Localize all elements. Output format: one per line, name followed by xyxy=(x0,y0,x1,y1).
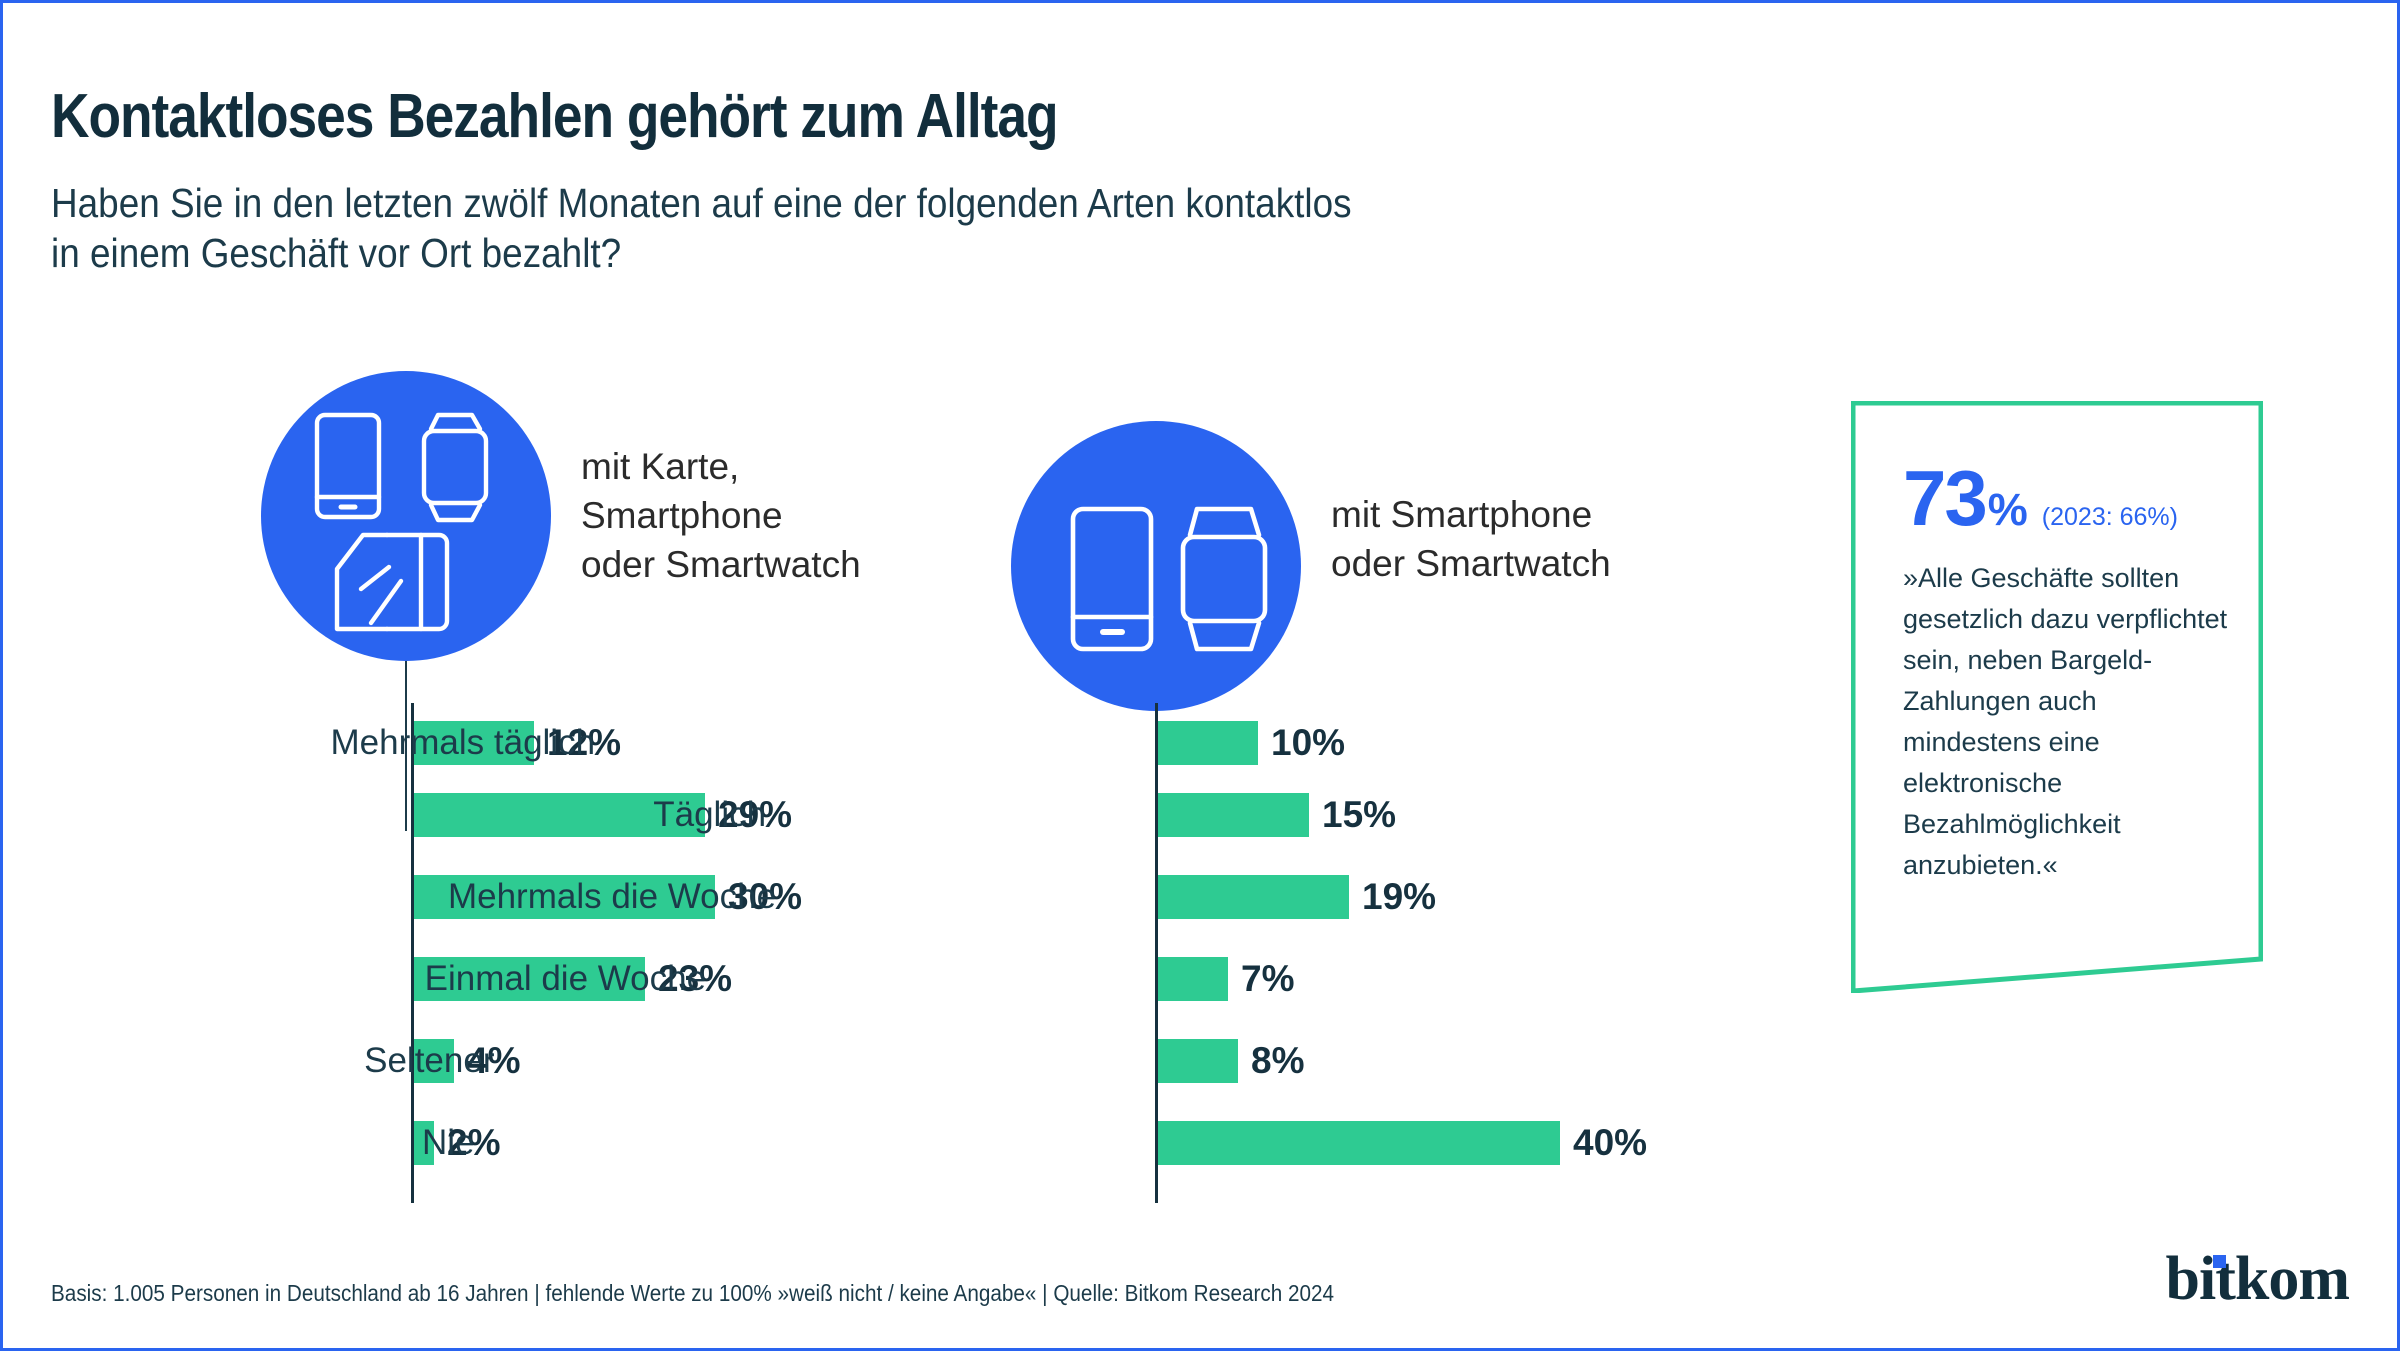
bar-value: 19% xyxy=(1362,876,1436,918)
row-label: Einmal die Woche xyxy=(425,947,706,1011)
bitkom-logo: bitkom xyxy=(2166,1248,2349,1310)
table-row: Mehrmals täglich 12% xyxy=(414,711,621,775)
logo-dot-icon xyxy=(2213,1255,2226,1268)
badge-left-line-3: oder Smartwatch xyxy=(581,541,861,590)
smartphone-smartwatch-icon xyxy=(1011,421,1301,711)
table-row: 19% xyxy=(1158,865,1436,929)
bar xyxy=(1158,1121,1560,1165)
badge-left-line-1: mit Karte, xyxy=(581,443,861,492)
bar xyxy=(1158,721,1258,765)
table-row: Mehrmals die Woche 30% xyxy=(414,865,802,929)
quote-statistic: 73 % (2023: 66%) xyxy=(1903,453,2233,544)
page-subtitle: Haben Sie in den letzten zwölf Monaten a… xyxy=(51,178,1626,278)
badge-label-right: mit Smartphone oder Smartwatch xyxy=(1331,491,1611,589)
row-label: Mehrmals täglich xyxy=(331,711,596,775)
quote-text: »Alle Geschäfte sollten gesetzlich dazu … xyxy=(1903,558,2233,886)
bar-value: 8% xyxy=(1251,1040,1304,1082)
bar xyxy=(1158,793,1309,837)
quote-callout: 73 % (2023: 66%) »Alle Geschäfte sollten… xyxy=(1851,401,2263,993)
row-label: Mehrmals die Woche xyxy=(448,865,776,929)
badge-left-line-2: Smartphone xyxy=(581,492,861,541)
subtitle-line-1: Haben Sie in den letzten zwölf Monaten a… xyxy=(51,178,1626,228)
badge-label-left: mit Karte, Smartphone oder Smartwatch xyxy=(581,443,861,589)
row-label: Nie xyxy=(422,1111,475,1175)
table-row: 7% xyxy=(1158,947,1294,1011)
page-title: Kontaktloses Bezahlen gehört zum Alltag xyxy=(51,81,1058,152)
logo-wordmark: bitkom xyxy=(2166,1245,2349,1313)
badge-right-line-1: mit Smartphone xyxy=(1331,491,1611,540)
badge-right-line-2: oder Smartwatch xyxy=(1331,540,1611,589)
table-row: Nie 2% xyxy=(414,1111,500,1175)
bar-value: 7% xyxy=(1241,958,1294,1000)
stat-unit: % xyxy=(1988,484,2028,536)
row-label: Seltener xyxy=(364,1029,494,1093)
table-row: 40% xyxy=(1158,1111,1647,1175)
stat-previous-year: (2023: 66%) xyxy=(2042,503,2178,532)
table-row: 10% xyxy=(1158,711,1345,775)
stat-number: 73 xyxy=(1903,453,1986,544)
table-row: 15% xyxy=(1158,783,1396,847)
bar-value: 10% xyxy=(1271,722,1345,764)
table-row: 8% xyxy=(1158,1029,1304,1093)
table-row: Einmal die Woche 23% xyxy=(414,947,732,1011)
subtitle-line-2: in einem Geschäft vor Ort bezahlt? xyxy=(51,228,1626,278)
footnote: Basis: 1.005 Personen in Deutschland ab … xyxy=(51,1280,1334,1307)
table-row: Täglich 29% xyxy=(414,783,792,847)
table-row: Seltener 4% xyxy=(414,1029,520,1093)
bar-value: 15% xyxy=(1322,794,1396,836)
smartphone-smartwatch-card-hand-icon xyxy=(261,371,551,661)
infographic-page: Kontaktloses Bezahlen gehört zum Alltag … xyxy=(0,0,2400,1351)
bar xyxy=(1158,957,1228,1001)
row-label: Täglich xyxy=(653,783,766,847)
bar xyxy=(1158,1039,1238,1083)
bar xyxy=(1158,875,1349,919)
bar-value: 40% xyxy=(1573,1122,1647,1164)
